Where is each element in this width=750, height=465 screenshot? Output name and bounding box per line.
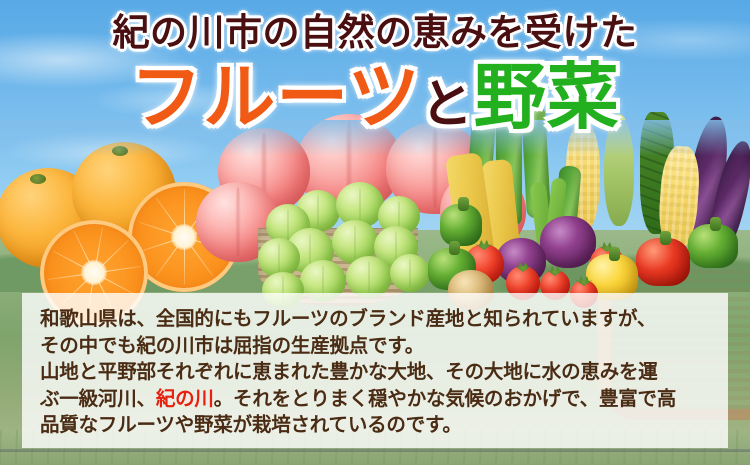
headline-fruits-text: フルーツ: [130, 55, 421, 139]
kinokawa-river-highlight: 紀の川: [156, 387, 214, 410]
description-line-4: ぶ一級河川、紀の川。それをとりまく穏やかな気候のおかげで、豊富で高: [40, 386, 712, 413]
description-line-4-part2: 。それをとりまく穏やかな気候のおかげで、豊富で高: [214, 387, 676, 410]
headline-subtitle: 紀の川市の自然の恵みを受けた: [0, 14, 750, 51]
description-line-3: 山地と平野部それぞれに恵まれた豊かな大地、その大地に水の恵みを運: [40, 359, 712, 386]
produce-photo-collage: [0, 120, 750, 310]
description-line-5: 品質なフルーツや野菜が栽培されているのです。: [40, 412, 712, 439]
headline-main-title: フルーツと野菜: [0, 61, 750, 133]
green-plum-icon: [390, 254, 430, 292]
description-line-2: その中でも紀の川市は屈指の生産拠点です。: [40, 333, 712, 360]
banner-headline: 紀の川市の自然の恵みを受けた フルーツと野菜: [0, 14, 750, 133]
orange-stem: [30, 174, 46, 184]
description-line-1: 和歌山県は、全国的にもフルーツのブランド産地と知られていますが、: [40, 306, 712, 333]
headline-vegetables-text: 野菜: [474, 55, 620, 139]
red-bell-pepper-icon: [636, 238, 690, 286]
headline-conjunction-text: と: [421, 75, 474, 135]
green-bell-pepper-icon: [688, 224, 738, 268]
description-panel: 和歌山県は、全国的にもフルーツのブランド産地と知られていますが、 その中でも紀の…: [22, 293, 728, 448]
green-plum-icon: [346, 256, 392, 298]
field-fence-rail: [0, 449, 750, 452]
description-line-4-part1: ぶ一級河川、: [40, 387, 156, 410]
red-onion-icon: [540, 216, 596, 268]
promotional-banner: 紀の川市の自然の恵みを受けた フルーツと野菜 和歌山県は、全国的にもフルーツのブ…: [0, 0, 750, 465]
green-bell-pepper-icon: [440, 204, 482, 246]
orange-stem: [112, 146, 128, 156]
